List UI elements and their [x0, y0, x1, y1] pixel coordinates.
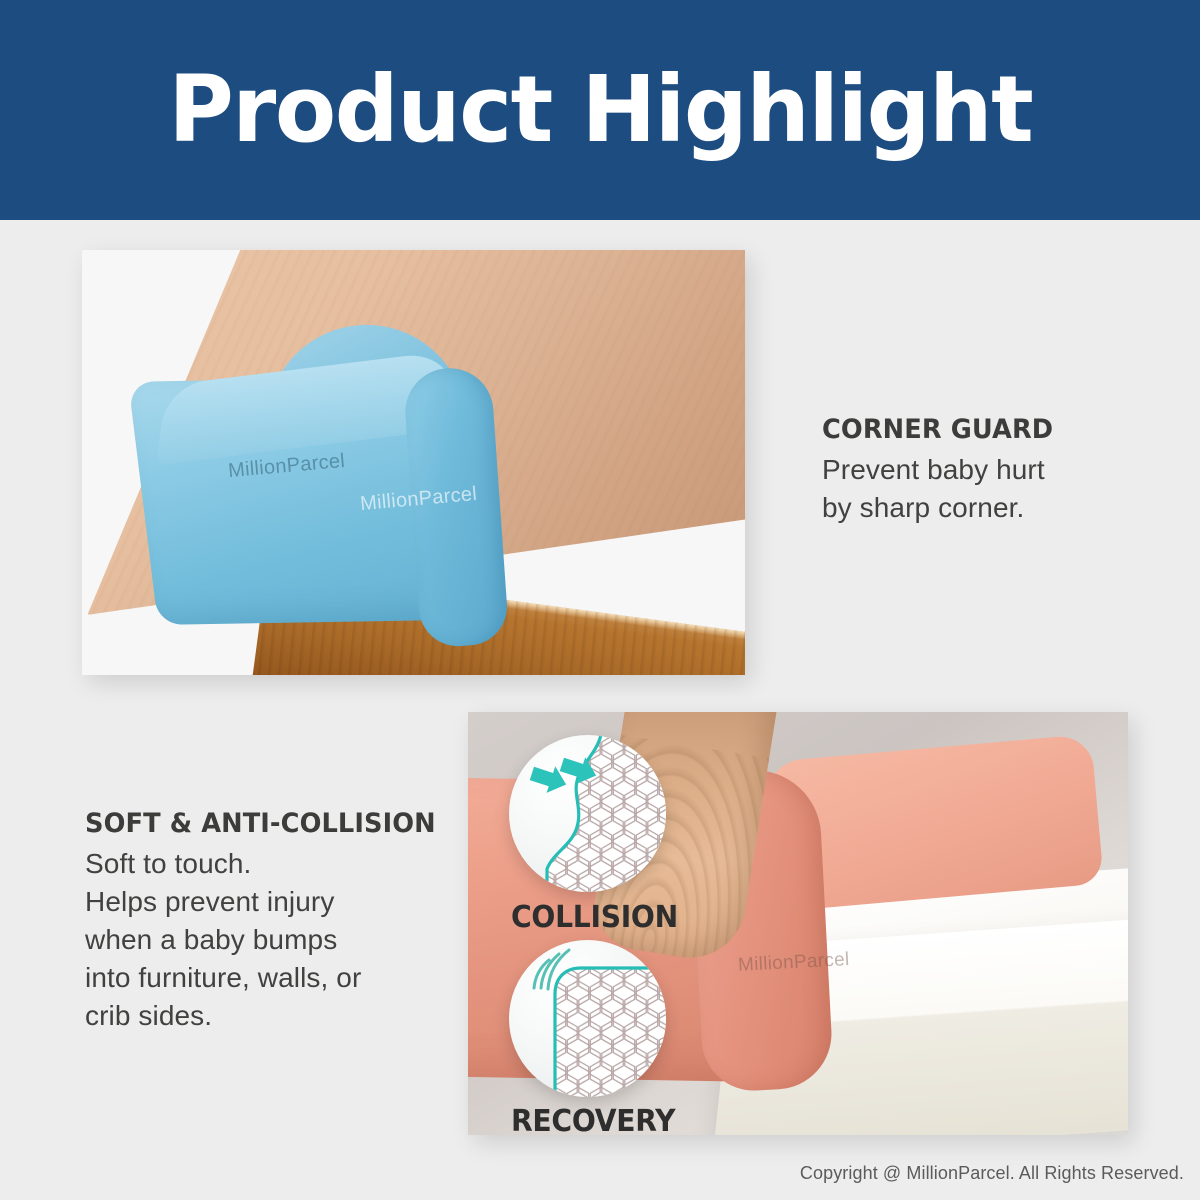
soft-body-line-1: Soft to touch. — [85, 845, 455, 883]
corner-guard-body-line-2: by sharp corner. — [822, 489, 1172, 527]
honeycomb-dented-with-arrows-icon — [509, 735, 666, 892]
corner-guard-heading: CORNER GUARD — [822, 414, 1155, 445]
copyright-text: Copyright @ MillionParcel. All Rights Re… — [800, 1163, 1184, 1184]
soft-anti-collision-body: Soft to touch. Helps prevent injury when… — [85, 845, 455, 1035]
honeycomb-restored-corner-icon — [509, 940, 666, 1097]
soft-body-line-3: when a baby bumps — [85, 921, 455, 959]
soft-anti-collision-text-block: SOFT & ANTI-COLLISION Soft to touch. Hel… — [85, 808, 455, 1035]
collision-badge — [509, 735, 666, 892]
page-title: Product Highlight — [168, 64, 1032, 156]
collision-badge-label: COLLISION — [511, 900, 678, 935]
corner-guard-text-block: CORNER GUARD Prevent baby hurt by sharp … — [822, 414, 1172, 527]
corner-guard-body-line-1: Prevent baby hurt — [822, 451, 1172, 489]
recovery-badge — [509, 940, 666, 1097]
soft-body-line-5: crib sides. — [85, 997, 455, 1035]
recovery-badge-label: RECOVERY — [511, 1104, 675, 1135]
soft-body-line-4: into furniture, walls, or — [85, 959, 455, 997]
header-band: Product Highlight — [0, 0, 1200, 220]
corner-guard-body: Prevent baby hurt by sharp corner. — [822, 451, 1172, 527]
soft-body-line-2: Helps prevent injury — [85, 883, 455, 921]
corner-guard-photo: MillionParcel MillionParcel — [82, 250, 745, 675]
soft-anti-collision-photo: MillionParcel — [468, 712, 1128, 1135]
soft-anti-collision-heading: SOFT & ANTI-COLLISION — [85, 808, 437, 839]
